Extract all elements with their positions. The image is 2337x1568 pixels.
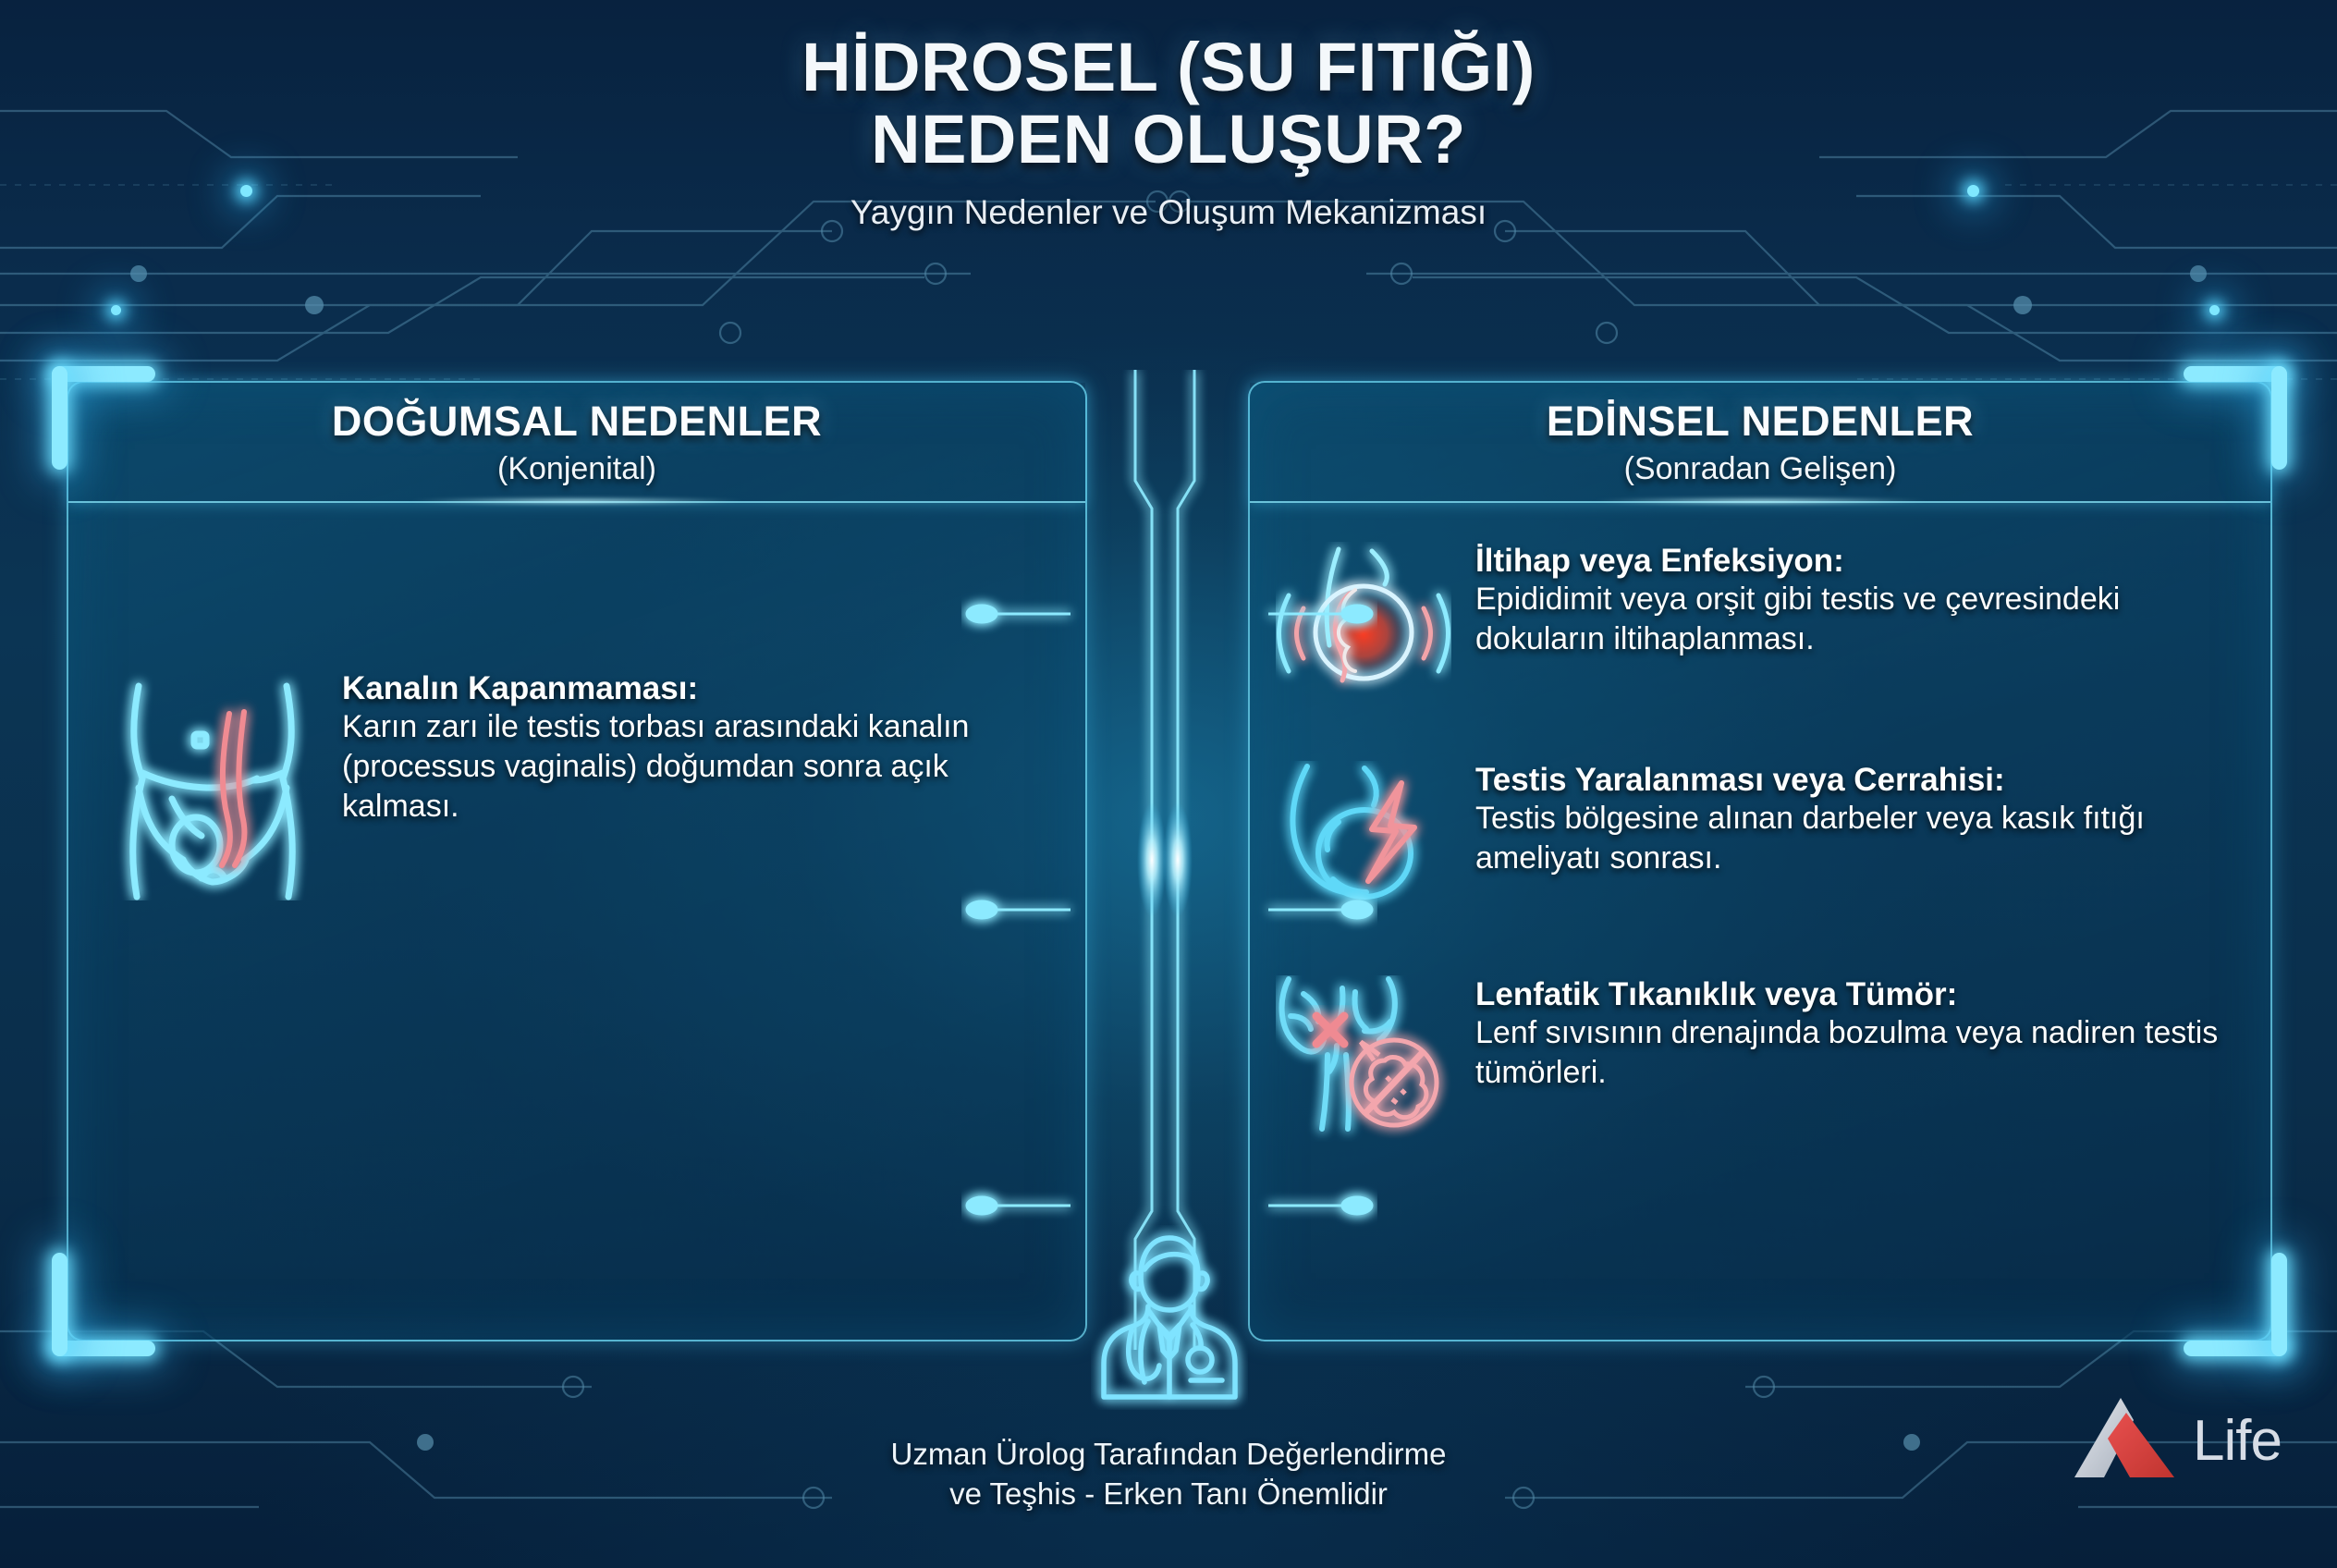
doctor-icon [1091, 1225, 1248, 1410]
panel-left-title: DOĞUMSAL NEDENLER [68, 383, 1085, 446]
panel-right-header: EDİNSEL NEDENLER (Sonradan Gelişen) [1250, 383, 2270, 503]
panel-left-header-glow [410, 497, 743, 505]
list-item-text: Lenfatik Tıkanıklık veya Tümör: Lenf sıv… [1475, 975, 2256, 1093]
list-item-text: İltihap veya Enfeksiyon: Epididimit veya… [1475, 542, 2256, 659]
list-item-lead: Lenfatik Tıkanıklık veya Tümör: [1475, 975, 2256, 1013]
brand-logo[interactable]: Life [2073, 1396, 2282, 1485]
page-title-line-1: HİDROSEL (SU FITIĞI) [0, 31, 2337, 104]
page-subtitle: Yaygın Nedenler ve Oluşum Mekanizması [0, 193, 2337, 232]
panel-left-header: DOĞUMSAL NEDENLER (Konjenital) [68, 383, 1085, 503]
infographic-root: HİDROSEL (SU FITIĞI) NEDEN OLUŞUR? Yaygı… [0, 0, 2337, 1568]
bg-glow-dot-far-right [2209, 305, 2220, 315]
panel-acquired-causes: EDİNSEL NEDENLER (Sonradan Gelişen) [1248, 381, 2272, 1341]
list-item-lead: Testis Yaralanması veya Cerrahisi: [1475, 761, 2256, 799]
bg-glow-dot-far-left [111, 305, 121, 315]
panel-right-items: İltihap veya Enfeksiyon: Epididimit veya… [1276, 542, 2256, 1194]
a-triangle-logo-icon [2073, 1396, 2184, 1485]
footer-caption: Uzman Ürolog Tarafından Değerlendirme ve… [0, 1435, 2337, 1514]
panel-right-header-glow [1594, 497, 1927, 505]
center-connector-spine [1063, 370, 1266, 1350]
panel-left-items: Kanalın Kapanmaması: Karın zarı ile test… [105, 669, 1048, 905]
header-block: HİDROSEL (SU FITIĞI) NEDEN OLUŞUR? Yaygı… [0, 31, 2337, 232]
list-item: Lenfatik Tıkanıklık veya Tümör: Lenf sıv… [1276, 975, 2256, 1146]
panel-left-subtitle: (Konjenital) [68, 451, 1085, 487]
list-item: Kanalın Kapanmaması: Karın zarı ile test… [105, 669, 1048, 905]
right-connector-nodes [1257, 592, 1377, 1257]
list-item-body: Lenf sıvısının drenajında bozulma veya n… [1475, 1013, 2256, 1093]
list-item-lead: Kanalın Kapanmaması: [342, 669, 1048, 707]
panel-right-title: EDİNSEL NEDENLER [1250, 383, 2270, 446]
list-item-body: Testis bölgesine alınan darbeler veya ka… [1475, 799, 2256, 878]
list-item-lead: İltihap veya Enfeksiyon: [1475, 542, 2256, 580]
left-connector-nodes [961, 592, 1082, 1257]
list-item-text: Testis Yaralanması veya Cerrahisi: Testi… [1475, 761, 2256, 878]
footer-line-1: Uzman Ürolog Tarafından Değerlendirme [0, 1435, 2337, 1475]
list-item-body: Karın zarı ile testis torbası arasındaki… [342, 707, 1048, 826]
pelvis-canal-icon [105, 669, 318, 905]
list-item: Testis Yaralanması veya Cerrahisi: Testi… [1276, 761, 2256, 927]
panel-right-subtitle: (Sonradan Gelişen) [1250, 451, 2270, 487]
page-title: HİDROSEL (SU FITIĞI) NEDEN OLUŞUR? [0, 31, 2337, 177]
footer-line-2: ve Teşhis - Erken Tanı Önemlidir [0, 1475, 2337, 1514]
list-item-text: Kanalın Kapanmaması: Karın zarı ile test… [342, 669, 1048, 827]
list-item-body: Epididimit veya orşit gibi testis ve çev… [1475, 580, 2256, 659]
logo-text: Life [2193, 1408, 2282, 1474]
page-title-line-2: NEDEN OLUŞUR? [0, 104, 2337, 176]
list-item: İltihap veya Enfeksiyon: Epididimit veya… [1276, 542, 2256, 713]
panel-congenital-causes: DOĞUMSAL NEDENLER (Konjenital) [67, 381, 1087, 1341]
